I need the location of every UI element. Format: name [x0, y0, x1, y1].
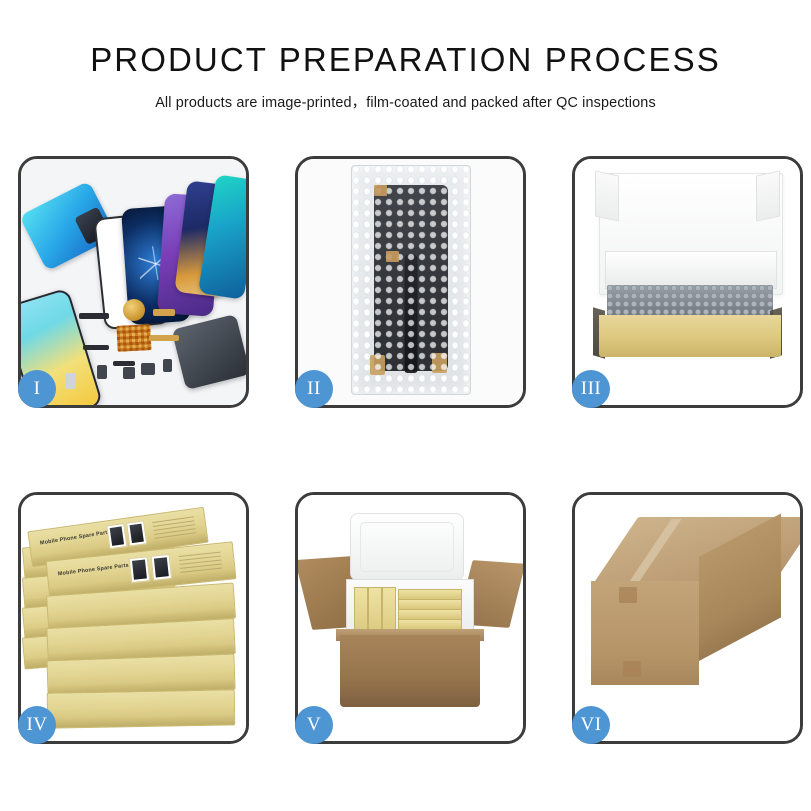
step-image-5	[298, 495, 523, 741]
step-card-4: Mobile Phone Spare Parts Mobile Phone Sp…	[18, 492, 249, 744]
step-card-5: V	[295, 492, 526, 744]
step-badge-6: VI	[572, 706, 610, 744]
part-dot-4	[163, 359, 172, 372]
carton-front	[340, 635, 480, 707]
step-card-2: II	[295, 156, 526, 408]
part-bar-2	[83, 345, 109, 350]
lid-flap-left	[595, 170, 619, 221]
box-stack: Mobile Phone Spare Parts Mobile Phone Sp…	[23, 505, 246, 737]
wrapped-flex-cable	[404, 255, 417, 373]
product-preparation-infographic: PRODUCT PREPARATION PROCESS All products…	[0, 0, 811, 811]
lid-flap-right	[756, 170, 780, 221]
step-card-1: I	[18, 156, 249, 408]
flex-cable-2	[149, 335, 179, 341]
box-label-2: Mobile Phone Spare Parts	[58, 563, 130, 578]
step-image-1	[21, 159, 246, 405]
step-badge-3: III	[572, 370, 610, 408]
box-thumb-2b	[151, 554, 173, 581]
part-dot-3	[141, 363, 155, 375]
step-badge-5: V	[295, 706, 333, 744]
step-image-6	[575, 495, 800, 741]
connector-left	[370, 355, 385, 375]
tape-middle	[386, 251, 399, 262]
foam-layer	[605, 251, 777, 289]
step-badge-1: I	[18, 370, 56, 408]
carton-front-face	[591, 581, 699, 685]
page-title: PRODUCT PREPARATION PROCESS	[0, 42, 811, 79]
box-label-1: Mobile Phone Spare Parts	[40, 529, 111, 546]
box-thumb-1b	[126, 520, 147, 546]
connector-right	[432, 353, 447, 373]
tape-patch-top	[619, 587, 637, 603]
part-dot-1	[97, 365, 107, 379]
part-bar-1	[79, 313, 109, 319]
speaker-component	[123, 299, 145, 321]
kraft-box-body	[599, 315, 781, 357]
part-dot-2	[123, 367, 135, 379]
chip-component	[116, 324, 151, 352]
header: PRODUCT PREPARATION PROCESS All products…	[0, 0, 811, 112]
process-steps-grid: I II	[18, 156, 804, 744]
foam-lid	[350, 513, 464, 581]
box-thumb-2a	[129, 556, 151, 583]
phone-backplate	[171, 314, 246, 390]
part-dot-5	[65, 373, 76, 389]
step-image-2	[298, 159, 523, 405]
step-card-6: VI	[572, 492, 803, 744]
step-image-4: Mobile Phone Spare Parts Mobile Phone Sp…	[21, 495, 246, 741]
step-badge-2: II	[295, 370, 333, 408]
bubble-wrapped-contents	[607, 285, 773, 317]
flex-cable-1	[153, 309, 175, 316]
stacked-box-6	[47, 689, 236, 728]
tape-top	[374, 185, 387, 196]
page-subtitle: All products are image-printed，film-coat…	[0, 91, 811, 112]
step-image-3	[575, 159, 800, 405]
part-bar-3	[113, 361, 135, 366]
step-badge-4: IV	[18, 706, 56, 744]
box-thumb-1a	[106, 523, 127, 549]
tape-patch-bottom	[623, 661, 641, 677]
step-card-3: III	[572, 156, 803, 408]
